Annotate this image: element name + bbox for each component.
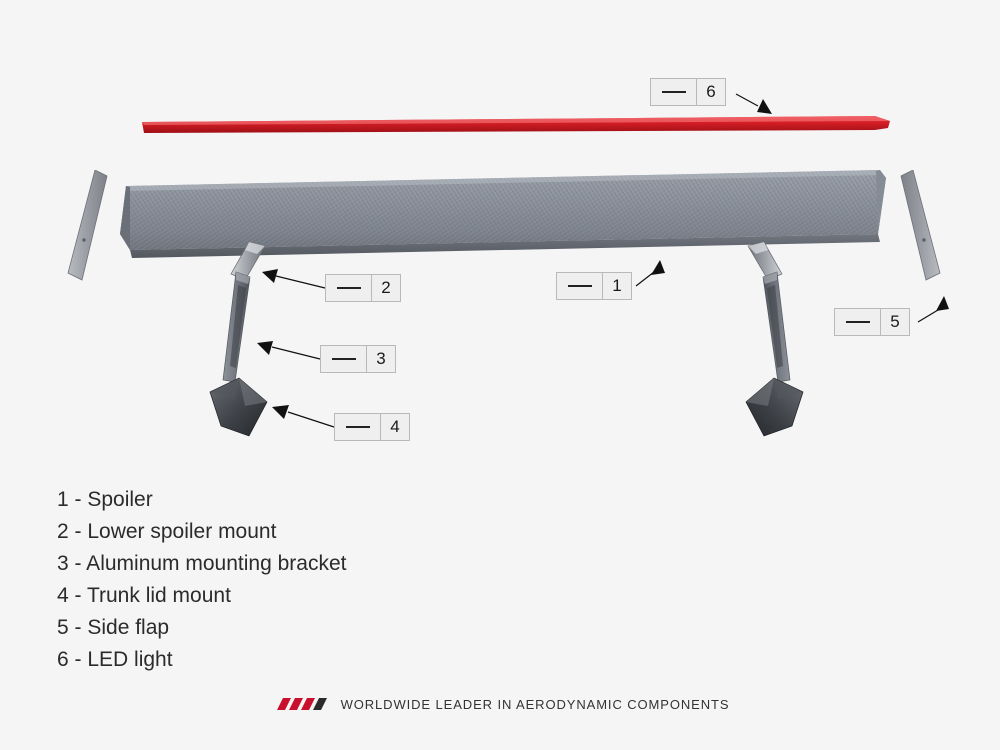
callout-5-side-flap: 5 xyxy=(834,308,910,336)
dash-icon xyxy=(332,358,356,360)
footer-tagline: WORLDWIDE LEADER IN AERODYNAMIC COMPONEN… xyxy=(341,697,730,712)
leader-line-6 xyxy=(736,94,758,106)
dash-icon xyxy=(846,321,870,323)
callout-6-led-light: 6 xyxy=(650,78,726,106)
callout-dash-cell xyxy=(557,273,603,299)
arrowhead-6 xyxy=(757,99,772,114)
brand-stripes-icon xyxy=(271,696,329,712)
leader-line-5 xyxy=(918,310,938,322)
dash-icon xyxy=(568,285,592,287)
diagram-canvas: 1 2 3 4 5 6 1 - Spoiler 2 - Lower spoile… xyxy=(0,0,1000,750)
aluminum-mounting-bracket-right xyxy=(763,272,790,382)
legend-item-3: 3 - Aluminum mounting bracket xyxy=(57,548,557,580)
callout-dash-cell xyxy=(321,346,367,372)
callout-number: 2 xyxy=(372,275,400,301)
callout-1-spoiler: 1 xyxy=(556,272,632,300)
callout-number: 5 xyxy=(881,309,909,335)
callout-4-trunk-lid-mount: 4 xyxy=(334,413,410,441)
mount-assembly-left xyxy=(205,240,285,445)
dash-icon xyxy=(337,287,361,289)
leader-line-1 xyxy=(636,272,654,286)
mount-assembly-right xyxy=(728,240,808,445)
leader-line-4 xyxy=(288,412,334,427)
trunk-lid-mount-left xyxy=(210,378,267,436)
trunk-lid-mount-right xyxy=(746,378,803,436)
legend-item-6: 6 - LED light xyxy=(57,644,557,676)
arrowhead-5 xyxy=(936,296,949,311)
legend-item-5: 5 - Side flap xyxy=(57,612,557,644)
dash-icon xyxy=(346,426,370,428)
legend-item-4: 4 - Trunk lid mount xyxy=(57,580,557,612)
dash-icon xyxy=(662,91,686,93)
callout-dash-cell xyxy=(335,414,381,440)
legend-item-1: 1 - Spoiler xyxy=(57,484,557,516)
side-flap-left xyxy=(62,170,108,285)
callout-3-aluminum-mounting-bracket: 3 xyxy=(320,345,396,373)
callout-dash-cell xyxy=(835,309,881,335)
footer: WORLDWIDE LEADER IN AERODYNAMIC COMPONEN… xyxy=(0,696,1000,712)
callout-number: 6 xyxy=(697,79,725,105)
callout-dash-cell xyxy=(326,275,372,301)
callout-number: 4 xyxy=(381,414,409,440)
callout-number: 1 xyxy=(603,273,631,299)
legend-item-2: 2 - Lower spoiler mount xyxy=(57,516,557,548)
callout-number: 3 xyxy=(367,346,395,372)
callout-dash-cell xyxy=(651,79,697,105)
aluminum-mounting-bracket-left xyxy=(223,272,250,382)
callout-2-lower-spoiler-mount: 2 xyxy=(325,274,401,302)
side-flap-right xyxy=(900,170,946,285)
led-light-strip xyxy=(140,116,892,134)
parts-legend: 1 - Spoiler 2 - Lower spoiler mount 3 - … xyxy=(57,484,557,676)
